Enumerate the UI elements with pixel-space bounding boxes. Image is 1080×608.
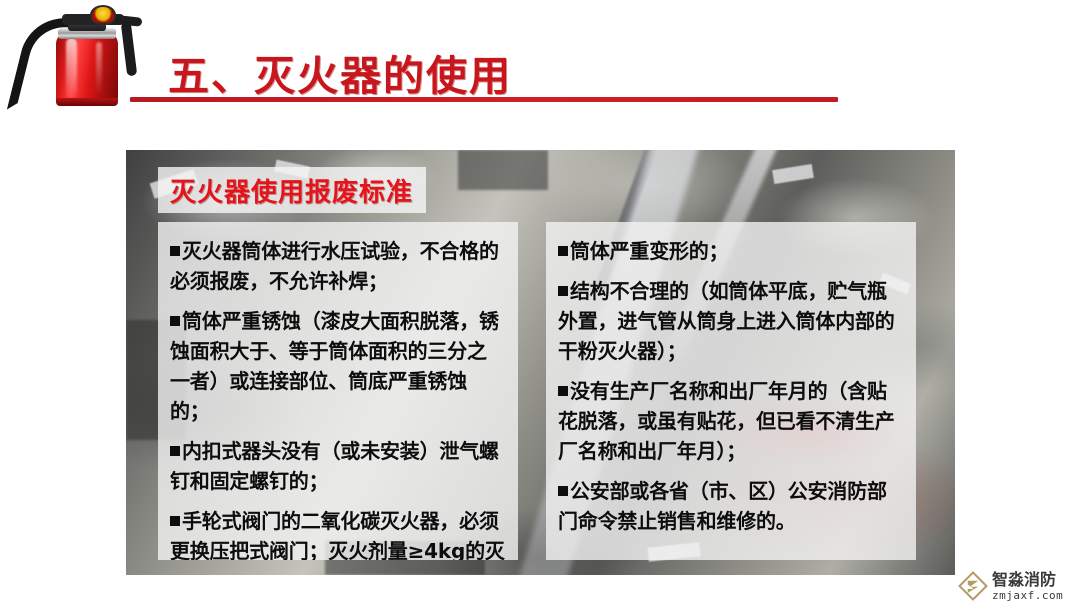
square-bullet-icon — [170, 446, 180, 456]
list-item: 灭火器筒体进行水压试验，不合格的必须报废，不允许补焊； — [170, 236, 506, 296]
watermark-text: 智淼消防 zmjaxf.com — [992, 572, 1063, 601]
slide-root: 五、灭火器的使用 灭火器使用报废标准 灭火器筒体进行水压试验，不合格的必须报废，… — [0, 0, 1080, 608]
pressure-gauge-icon — [90, 5, 116, 25]
square-bullet-icon — [558, 386, 568, 396]
criteria-column-left: 灭火器筒体进行水压试验，不合格的必须报废，不允许补焊； 筒体严重锈蚀（漆皮大面积… — [158, 222, 518, 560]
list-item-text: 没有生产厂名称和出厂年月的（含贴花脱落，或虽有贴花，但已看不清生产厂名称和出厂年… — [558, 379, 895, 463]
list-item: 公安部或各省（市、区）公安消防部门命令禁止销售和维修的。 — [558, 476, 904, 536]
slide-header: 五、灭火器的使用 — [0, 0, 1080, 115]
list-item-text: 灭火器筒体进行水压试验，不合格的必须报废，不允许补焊； — [170, 239, 499, 293]
list-item: 内扣式器头没有（或未安装）泄气螺钉和固定螺钉的； — [170, 436, 506, 496]
callout-title-text: 灭火器使用报废标准 — [158, 172, 413, 209]
watermark: 智淼消防 zmjaxf.com — [958, 567, 1076, 605]
square-bullet-icon — [558, 486, 568, 496]
watermark-url: zmjaxf.com — [992, 590, 1063, 601]
list-item: 没有生产厂名称和出厂年月的（含贴花脱落，或虽有贴花，但已看不清生产厂名称和出厂年… — [558, 376, 904, 466]
square-bullet-icon — [170, 246, 180, 256]
list-item-text: 手轮式阀门的二氧化碳灭火器，必须更换压把式阀门；灭火剂量≥4kg的灭火器； — [170, 509, 505, 560]
photo-shadow-patch — [458, 150, 548, 190]
callout-title-box: 灭火器使用报废标准 — [158, 167, 426, 213]
watermark-brand: 智淼消防 — [992, 572, 1063, 588]
extinguisher-base — [56, 98, 118, 106]
square-bullet-icon — [170, 516, 180, 526]
list-item: 筒体严重变形的； — [558, 236, 904, 266]
header-divider — [130, 97, 838, 102]
criteria-column-right: 筒体严重变形的； 结构不合理的（如筒体平底，贮气瓶外置，进气管从筒身上进入筒体内… — [546, 222, 916, 560]
fire-extinguisher-image — [8, 2, 158, 102]
list-item-text: 筒体严重锈蚀（漆皮大面积脱落，锈蚀面积大于、等于筒体面积的三分之一者）或连接部位… — [170, 309, 499, 423]
list-item: 手轮式阀门的二氧化碳灭火器，必须更换压把式阀门；灭火剂量≥4kg的灭火器； — [170, 506, 506, 560]
list-item: 结构不合理的（如筒体平底，贮气瓶外置，进气管从筒身上进入筒体内部的干粉灭火器）； — [558, 276, 904, 366]
zhimiao-diamond-logo-icon — [958, 571, 988, 601]
square-bullet-icon — [558, 246, 568, 256]
list-item-text: 内扣式器头没有（或未安装）泄气螺钉和固定螺钉的； — [170, 439, 499, 493]
list-item-text: 筒体严重变形的； — [570, 239, 728, 263]
list-item-text: 公安部或各省（市、区）公安消防部门命令禁止销售和维修的。 — [558, 479, 887, 533]
list-item: 筒体严重锈蚀（漆皮大面积脱落，锈蚀面积大于、等于筒体面积的三分之一者）或连接部位… — [170, 306, 506, 426]
square-bullet-icon — [558, 286, 568, 296]
extinguisher-highlight-secondary — [96, 42, 102, 94]
extinguisher-carry-handle — [121, 22, 138, 77]
page-title: 五、灭火器的使用 — [168, 42, 512, 102]
square-bullet-icon — [170, 316, 180, 326]
list-item-text: 结构不合理的（如筒体平底，贮气瓶外置，进气管从筒身上进入筒体内部的干粉灭火器）； — [558, 279, 895, 363]
extinguisher-highlight — [66, 38, 77, 98]
